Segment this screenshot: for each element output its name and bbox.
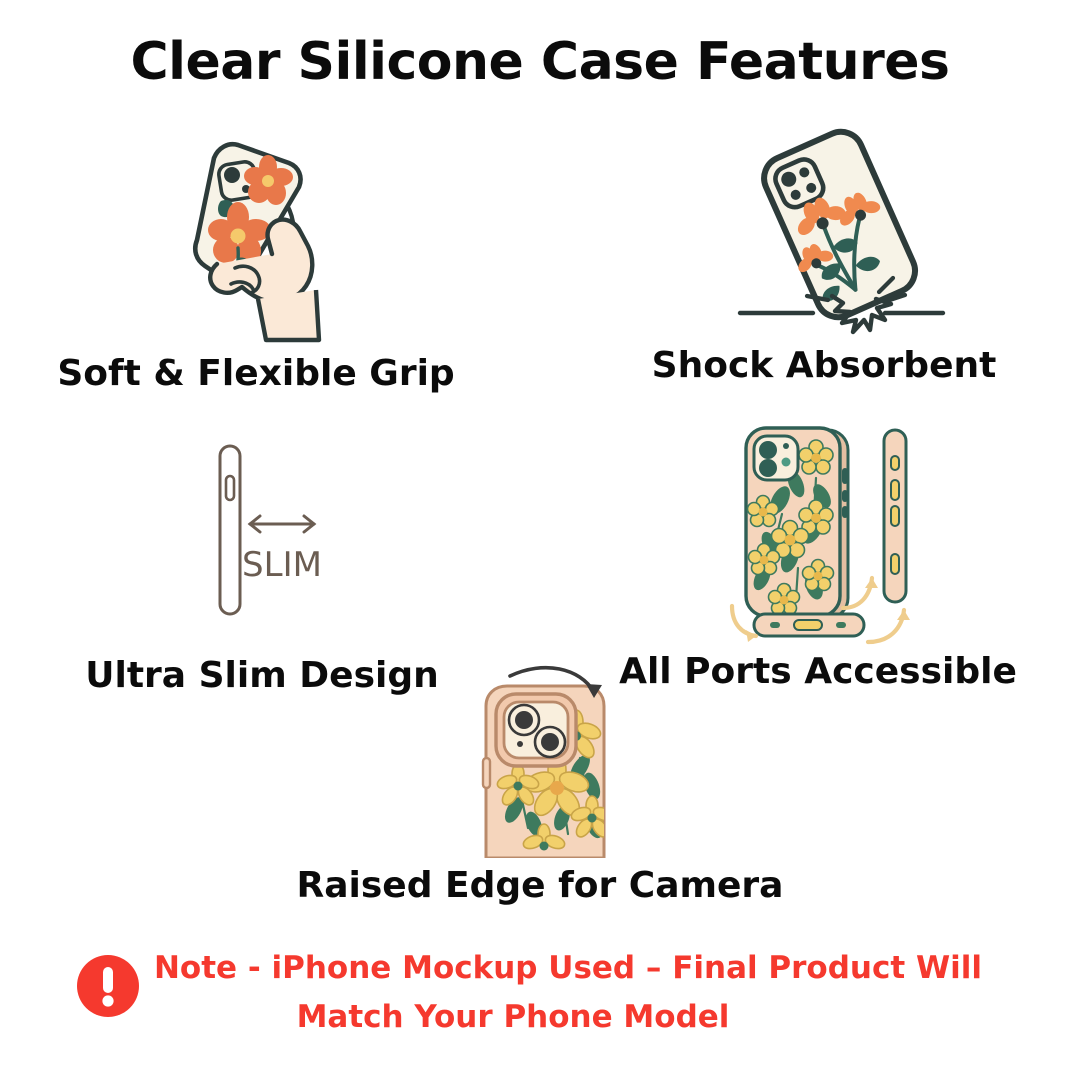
page-title: Clear Silicone Case Features [0, 34, 1080, 91]
feature-label-soft-flexible-grip: Soft & Flexible Grip [0, 354, 512, 394]
note-banner: Note - iPhone Mockup Used – Final Produc… [0, 944, 1080, 1054]
feature-label-shock-absorbent: Shock Absorbent [568, 346, 1080, 386]
note-line-2: Match Your Phone Model [8, 993, 1018, 1042]
feature-label-ultra-slim-design: Ultra Slim Design [0, 656, 524, 696]
feature-label-raised-edge-for-camera: Raised Edge for Camera [0, 866, 1080, 906]
hand-flexing-phone-case-icon [138, 118, 368, 344]
raised-camera-bezel-icon [452, 658, 652, 858]
note-text: Note - iPhone Mockup Used – Final Produc… [118, 944, 1018, 1042]
svg-text:SLIM: SLIM [242, 545, 322, 585]
note-line-1: Note - iPhone Mockup Used – Final Produc… [118, 944, 1018, 993]
phone-edge-profile-icon: SLIM [190, 428, 360, 632]
phone-drop-impact-icon [735, 120, 950, 340]
phone-ports-cutouts-icon [718, 418, 933, 650]
infographic-page: Clear Silicone Case Features [0, 0, 1080, 1080]
